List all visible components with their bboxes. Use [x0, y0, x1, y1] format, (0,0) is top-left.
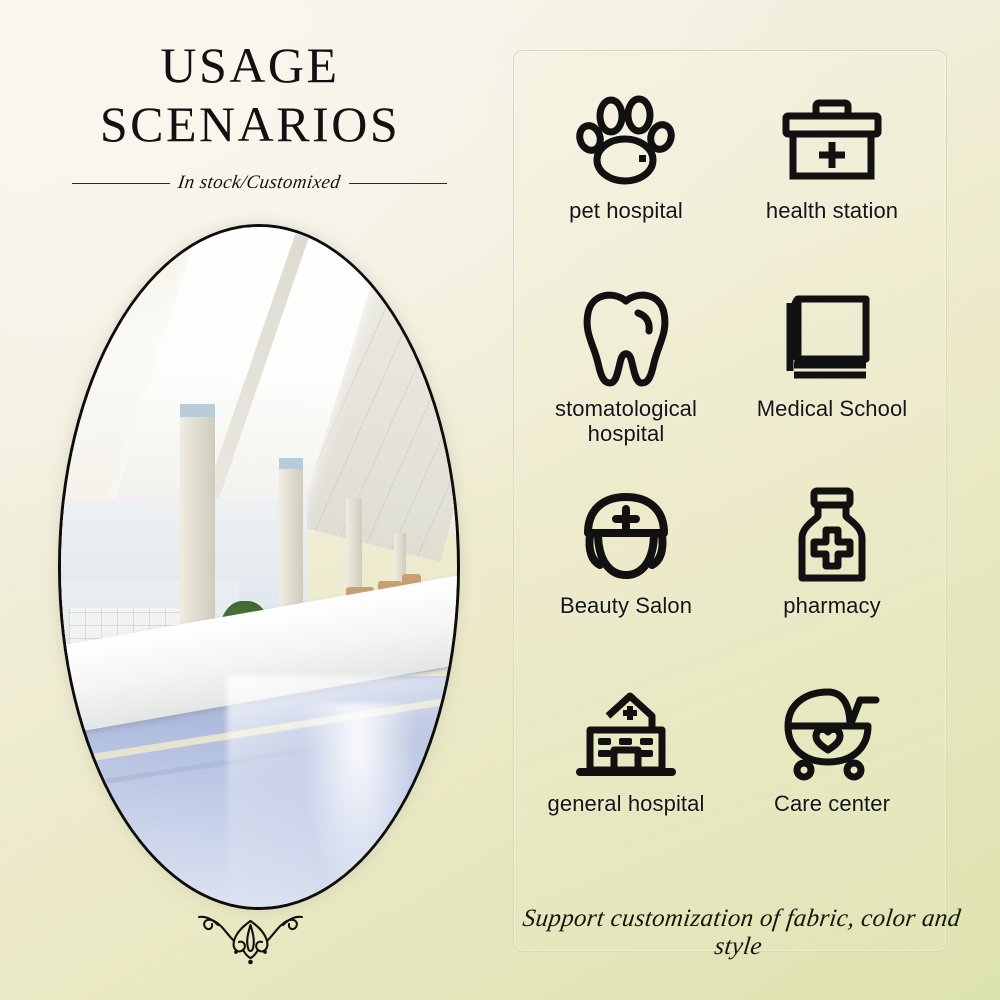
- page-title-line-1: USAGE: [0, 36, 500, 95]
- medical-kit-icon: [780, 86, 884, 196]
- scenario-item-pet-hospital[interactable]: pet hospital: [523, 78, 729, 276]
- tooth-icon: [578, 284, 674, 394]
- scenario-item-beauty-salon[interactable]: Beauty Salon: [523, 473, 729, 671]
- filigree-flourish-ornament: [178, 905, 323, 967]
- scenario-label: health station: [766, 198, 898, 224]
- footer-note: Support customization of fabric, color a…: [497, 905, 984, 961]
- page-title-line-2: SCENARIOS: [0, 95, 500, 154]
- scenario-item-stomatological-hospital[interactable]: stomatological hospital: [523, 276, 729, 474]
- subtitle-row: In stock/Customixed: [72, 165, 447, 201]
- paw-print-icon: [573, 86, 679, 196]
- left-column: USAGE SCENARIOS In stock/Customixed: [0, 0, 500, 1000]
- medicine-bottle-icon: [790, 481, 874, 591]
- scenario-item-pharmacy[interactable]: pharmacy: [729, 473, 935, 671]
- scenario-label: pharmacy: [783, 593, 880, 619]
- scenario-label: pet hospital: [569, 198, 683, 224]
- photo-column-2-band: [279, 458, 303, 469]
- scenario-item-medical-school[interactable]: Medical School: [729, 276, 935, 474]
- book-icon: [784, 284, 880, 394]
- hospital-corridor-photo: [58, 224, 460, 910]
- scenario-label: stomatological hospital: [523, 396, 729, 448]
- hospital-building-icon: [574, 679, 678, 789]
- photo-column-1-band: [180, 404, 216, 418]
- scenarios-grid: pet hospital health station: [523, 78, 935, 868]
- scenario-label: Care center: [774, 791, 890, 817]
- subtitle-text: In stock/Customixed: [177, 172, 342, 194]
- scenario-label: general hospital: [548, 791, 705, 817]
- baby-stroller-icon: [780, 679, 884, 789]
- subtitle-rule-right: [349, 183, 447, 184]
- subtitle-rule-left: [72, 183, 170, 184]
- scenario-label: Beauty Salon: [560, 593, 692, 619]
- scenario-item-general-hospital[interactable]: general hospital: [523, 671, 729, 869]
- scenario-item-care-center[interactable]: Care center: [729, 671, 935, 869]
- scenario-item-health-station[interactable]: health station: [729, 78, 935, 276]
- scenario-label: Medical School: [757, 396, 908, 422]
- photo-scene: [61, 227, 457, 907]
- photo-floor-highlight: [299, 703, 418, 907]
- nurse-cap-icon: [576, 481, 676, 591]
- page-title: USAGE SCENARIOS: [0, 36, 500, 154]
- poster-root: USAGE SCENARIOS In stock/Customixed: [0, 0, 1000, 1000]
